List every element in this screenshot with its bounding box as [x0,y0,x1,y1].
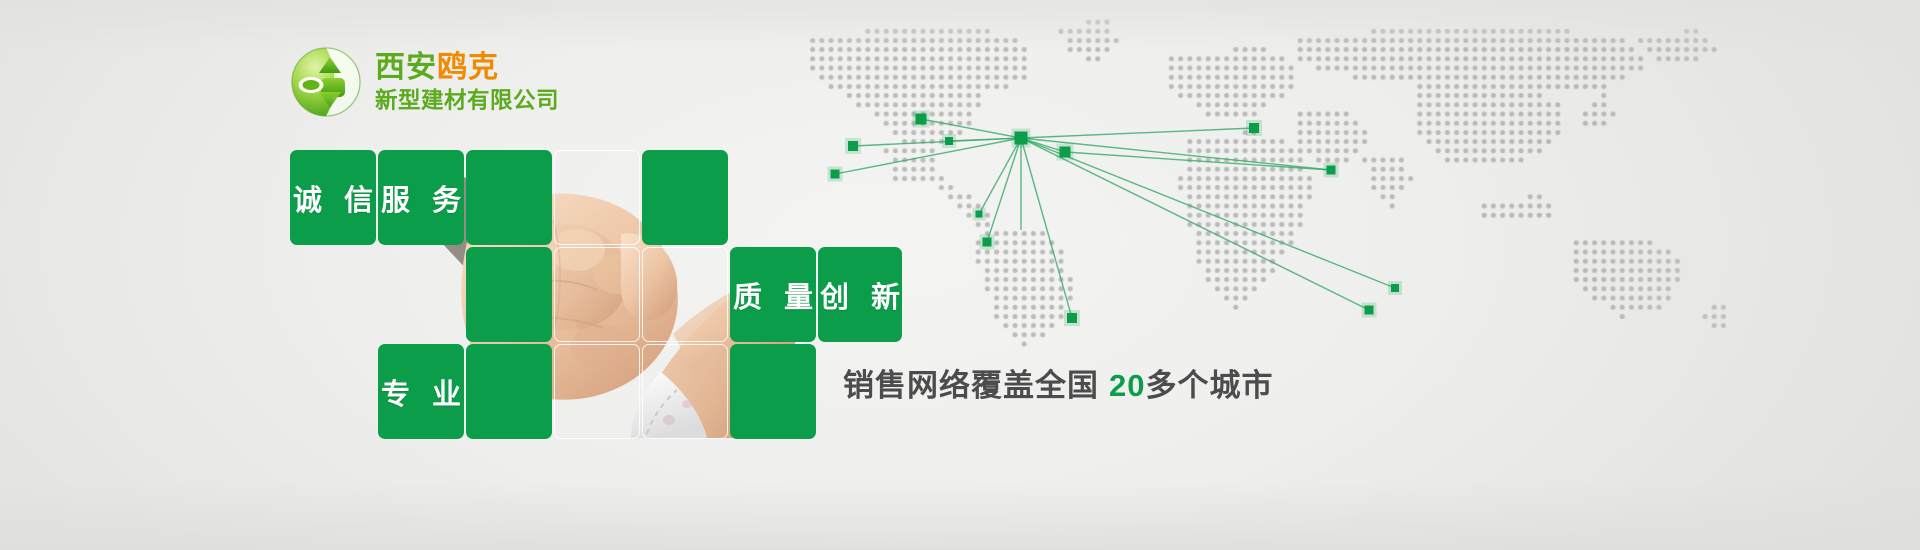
logo-text-block: 西安鸥克 新型建材有限公司 [375,51,559,113]
network-node[interactable] [983,238,992,247]
network-link [1065,152,1331,170]
network-links-svg [735,18,1910,348]
tagline-prefix: 销售网络覆盖全国 [843,368,1099,403]
logo-subtitle: 新型建材有限公司 [375,90,559,113]
network-link [835,138,1021,174]
value-tile-10[interactable]: 专 业 [378,344,464,439]
network-node[interactable] [1365,306,1374,315]
network-node[interactable] [1060,147,1071,158]
sales-network-tagline: 销售网络覆盖全国20多个城市 [843,360,1273,405]
grid-tile-7[interactable] [642,247,728,342]
network-node[interactable] [848,141,858,151]
tagline-number: 20 [1109,368,1145,403]
value-tile-label: 诚 信 [290,150,376,245]
value-tile-label: 专 业 [378,344,464,439]
grid-tile-5[interactable] [466,247,552,342]
network-node[interactable] [916,114,927,125]
network-node[interactable] [1327,166,1336,175]
network-node[interactable] [945,137,953,145]
network-node[interactable] [1067,313,1077,323]
network-node[interactable] [1015,132,1028,145]
logo-brand: 鸥克 [437,51,499,84]
grid-tile-14[interactable] [730,344,816,439]
company-logo[interactable]: 西安鸥克 新型建材有限公司 [291,47,559,117]
logo-title-line: 西安鸥克 [375,53,559,83]
logo-city: 西安 [375,51,437,84]
network-node[interactable] [831,170,840,179]
network-node[interactable] [976,211,983,218]
grid-tile-3[interactable] [554,150,640,245]
hero-banner: 西安鸥克 新型建材有限公司 [0,0,1920,550]
network-node[interactable] [1249,123,1259,133]
tagline-suffix: 多个城市 [1145,368,1273,403]
network-link [1021,138,1369,310]
globe-leaf-icon [291,47,361,117]
grid-tile-13[interactable] [642,344,728,439]
network-link [921,119,1021,138]
network-link [1021,128,1254,138]
value-tile-label: 服 务 [378,150,464,245]
network-link [1021,138,1072,318]
grid-tile-2[interactable] [466,150,552,245]
grid-tile-11[interactable] [466,344,552,439]
value-tile-1[interactable]: 服 务 [378,150,464,245]
network-node[interactable] [1391,284,1399,292]
world-map-network [735,18,1910,348]
grid-tile-6[interactable] [554,247,640,342]
value-tile-0[interactable]: 诚 信 [290,150,376,245]
grid-tile-4[interactable] [642,150,728,245]
network-link [1021,138,1395,288]
grid-tile-12[interactable] [554,344,640,439]
